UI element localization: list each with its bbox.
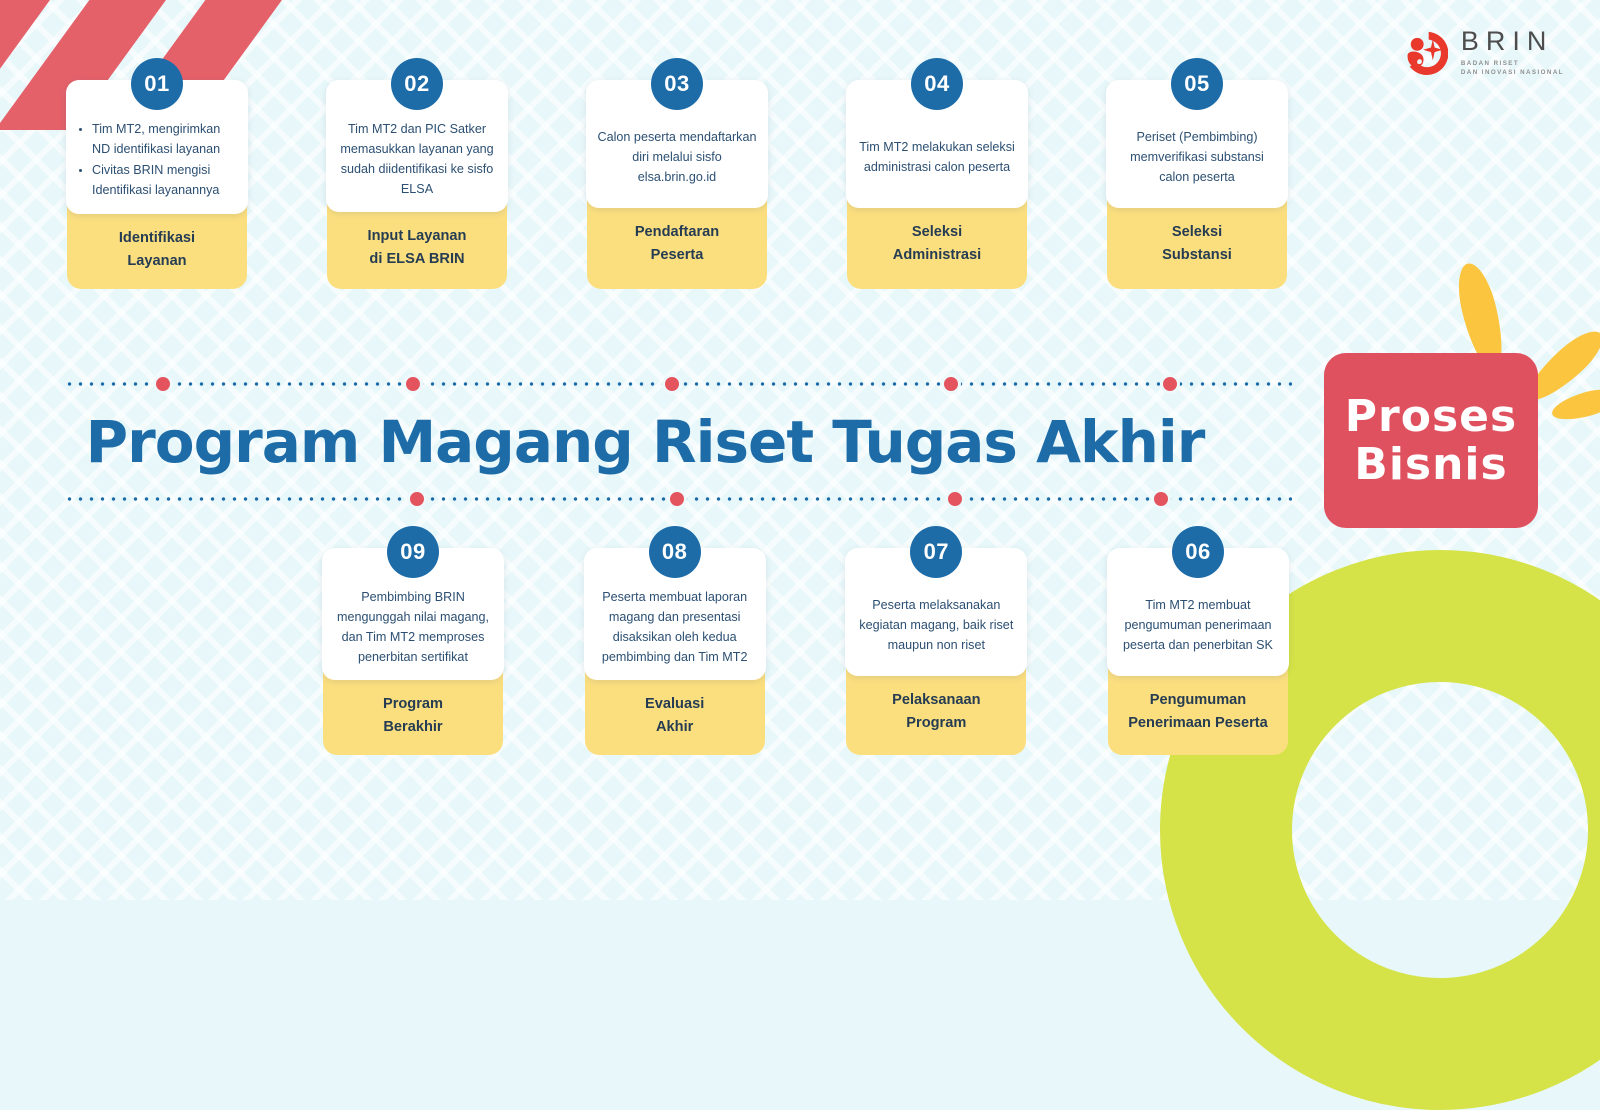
page-title: Program Magang Riset Tugas Akhir bbox=[0, 408, 1290, 476]
step-title-line1: Pelaksanaan bbox=[847, 689, 1025, 712]
process-step-card: 07Peserta melaksanakan kegiatan magang, … bbox=[841, 548, 1031, 755]
step-title-line1: Pendaftaran bbox=[588, 221, 766, 244]
timeline-node bbox=[153, 374, 173, 394]
step-title-line1: Seleksi bbox=[1108, 221, 1286, 244]
step-description: Peserta membuat laporan magang dan prese… bbox=[594, 588, 756, 668]
step-title-line2: di ELSA BRIN bbox=[328, 248, 506, 271]
brin-emblem-icon bbox=[1402, 30, 1448, 76]
timeline-node bbox=[941, 374, 961, 394]
step-number-badge: 05 bbox=[1171, 58, 1223, 110]
step-title-line2: Administrasi bbox=[848, 244, 1026, 267]
timeline-node bbox=[403, 374, 423, 394]
step-title: SeleksiSubstansi bbox=[1102, 208, 1292, 283]
step-description: Tim MT2 dan PIC Satker memasukkan layana… bbox=[336, 120, 498, 200]
step-title-line1: Program bbox=[324, 693, 502, 716]
process-step-card: 05Periset (Pembimbing) memverifikasi sub… bbox=[1102, 80, 1292, 289]
step-title-line1: Pengumuman bbox=[1109, 689, 1287, 712]
brin-wordmark: BRIN bbox=[1461, 28, 1564, 55]
step-title-line2: Peserta bbox=[588, 244, 766, 267]
step-title: Input Layanandi ELSA BRIN bbox=[322, 212, 512, 287]
card-panel: 02Tim MT2 dan PIC Satker memasukkan laya… bbox=[326, 80, 508, 212]
card-panel: 04Tim MT2 melakukan seleksi administrasi… bbox=[846, 80, 1028, 208]
process-step-card: 06Tim MT2 membuat pengumuman penerimaan … bbox=[1103, 548, 1293, 755]
step-description: Tim MT2 membuat pengumuman penerimaan pe… bbox=[1117, 596, 1279, 656]
brin-tagline-line2: DAN INOVASI NASIONAL bbox=[1461, 69, 1564, 78]
proses-bisnis-badge: Proses Bisnis bbox=[1324, 353, 1538, 528]
step-number-badge: 06 bbox=[1172, 526, 1224, 578]
card-panel: 07Peserta melaksanakan kegiatan magang, … bbox=[845, 548, 1027, 676]
step-number-badge: 04 bbox=[911, 58, 963, 110]
step-title-line2: Akhir bbox=[586, 716, 764, 739]
timeline-node bbox=[667, 489, 687, 509]
card-panel: 03Calon peserta mendaftarkan diri melalu… bbox=[586, 80, 768, 208]
step-number-badge: 01 bbox=[131, 58, 183, 110]
process-steps-bottom-row: 09Pembimbing BRIN mengunggah nilai magan… bbox=[318, 548, 1293, 755]
step-title-line1: Evaluasi bbox=[586, 693, 764, 716]
brin-logo: BRIN BADAN RISET DAN INOVASI NASIONAL bbox=[1402, 28, 1564, 78]
step-description: Pembimbing BRIN mengunggah nilai magang,… bbox=[332, 588, 494, 668]
card-panel: 06Tim MT2 membuat pengumuman penerimaan … bbox=[1107, 548, 1289, 676]
step-title-line1: Seleksi bbox=[848, 221, 1026, 244]
step-title: IdentifikasiLayanan bbox=[62, 214, 252, 289]
card-panel: 05Periset (Pembimbing) memverifikasi sub… bbox=[1106, 80, 1288, 208]
timeline-node bbox=[662, 374, 682, 394]
step-title-line1: Input Layanan bbox=[328, 225, 506, 248]
step-number-badge: 07 bbox=[910, 526, 962, 578]
badge-line-2: Bisnis bbox=[1354, 441, 1507, 489]
card-panel: 08Peserta membuat laporan magang dan pre… bbox=[584, 548, 766, 680]
process-step-card: 03Calon peserta mendaftarkan diri melalu… bbox=[582, 80, 772, 289]
step-title-line2: Program bbox=[847, 712, 1025, 735]
step-title: PengumumanPenerimaan Peserta bbox=[1103, 676, 1293, 751]
step-number-badge: 02 bbox=[391, 58, 443, 110]
step-title-line2: Penerimaan Peserta bbox=[1109, 712, 1287, 735]
step-bullet-item: Civitas BRIN mengisi Identifikasi layana… bbox=[92, 161, 238, 201]
step-number-badge: 08 bbox=[649, 526, 701, 578]
step-title-line2: Berakhir bbox=[324, 716, 502, 739]
brin-tagline-line1: BADAN RISET bbox=[1461, 60, 1564, 69]
process-step-card: 04Tim MT2 melakukan seleksi administrasi… bbox=[842, 80, 1032, 289]
process-steps-top-row: 01Tim MT2, mengirimkan ND identifikasi l… bbox=[62, 80, 1292, 289]
process-step-card: 09Pembimbing BRIN mengunggah nilai magan… bbox=[318, 548, 508, 755]
step-number-badge: 09 bbox=[387, 526, 439, 578]
step-title-line1: Identifikasi bbox=[68, 227, 246, 250]
step-title: SeleksiAdministrasi bbox=[842, 208, 1032, 283]
timeline-node bbox=[1160, 374, 1180, 394]
process-step-card: 01Tim MT2, mengirimkan ND identifikasi l… bbox=[62, 80, 252, 289]
step-description: Periset (Pembimbing) memverifikasi subst… bbox=[1116, 128, 1278, 188]
process-step-card: 08Peserta membuat laporan magang dan pre… bbox=[580, 548, 770, 755]
badge-line-1: Proses bbox=[1345, 393, 1517, 441]
step-title: ProgramBerakhir bbox=[318, 680, 508, 755]
step-title: PendaftaranPeserta bbox=[582, 208, 772, 283]
step-description: Calon peserta mendaftarkan diri melalui … bbox=[596, 128, 758, 188]
step-description: Tim MT2, mengirimkan ND identifikasi lay… bbox=[76, 120, 238, 202]
step-title: EvaluasiAkhir bbox=[580, 680, 770, 755]
process-step-card: 02Tim MT2 dan PIC Satker memasukkan laya… bbox=[322, 80, 512, 289]
step-title-line2: Substansi bbox=[1108, 244, 1286, 267]
card-panel: 01Tim MT2, mengirimkan ND identifikasi l… bbox=[66, 80, 248, 214]
timeline-node bbox=[945, 489, 965, 509]
step-number-badge: 03 bbox=[651, 58, 703, 110]
step-bullet-list: Tim MT2, mengirimkan ND identifikasi lay… bbox=[76, 120, 238, 201]
step-bullet-item: Tim MT2, mengirimkan ND identifikasi lay… bbox=[92, 120, 238, 160]
step-description: Peserta melaksanakan kegiatan magang, ba… bbox=[855, 596, 1017, 656]
step-description: Tim MT2 melakukan seleksi administrasi c… bbox=[856, 138, 1018, 178]
timeline-node bbox=[1151, 489, 1171, 509]
card-panel: 09Pembimbing BRIN mengunggah nilai magan… bbox=[322, 548, 504, 680]
step-title-line2: Layanan bbox=[68, 250, 246, 273]
timeline-node bbox=[407, 489, 427, 509]
step-title: PelaksanaanProgram bbox=[841, 676, 1031, 751]
